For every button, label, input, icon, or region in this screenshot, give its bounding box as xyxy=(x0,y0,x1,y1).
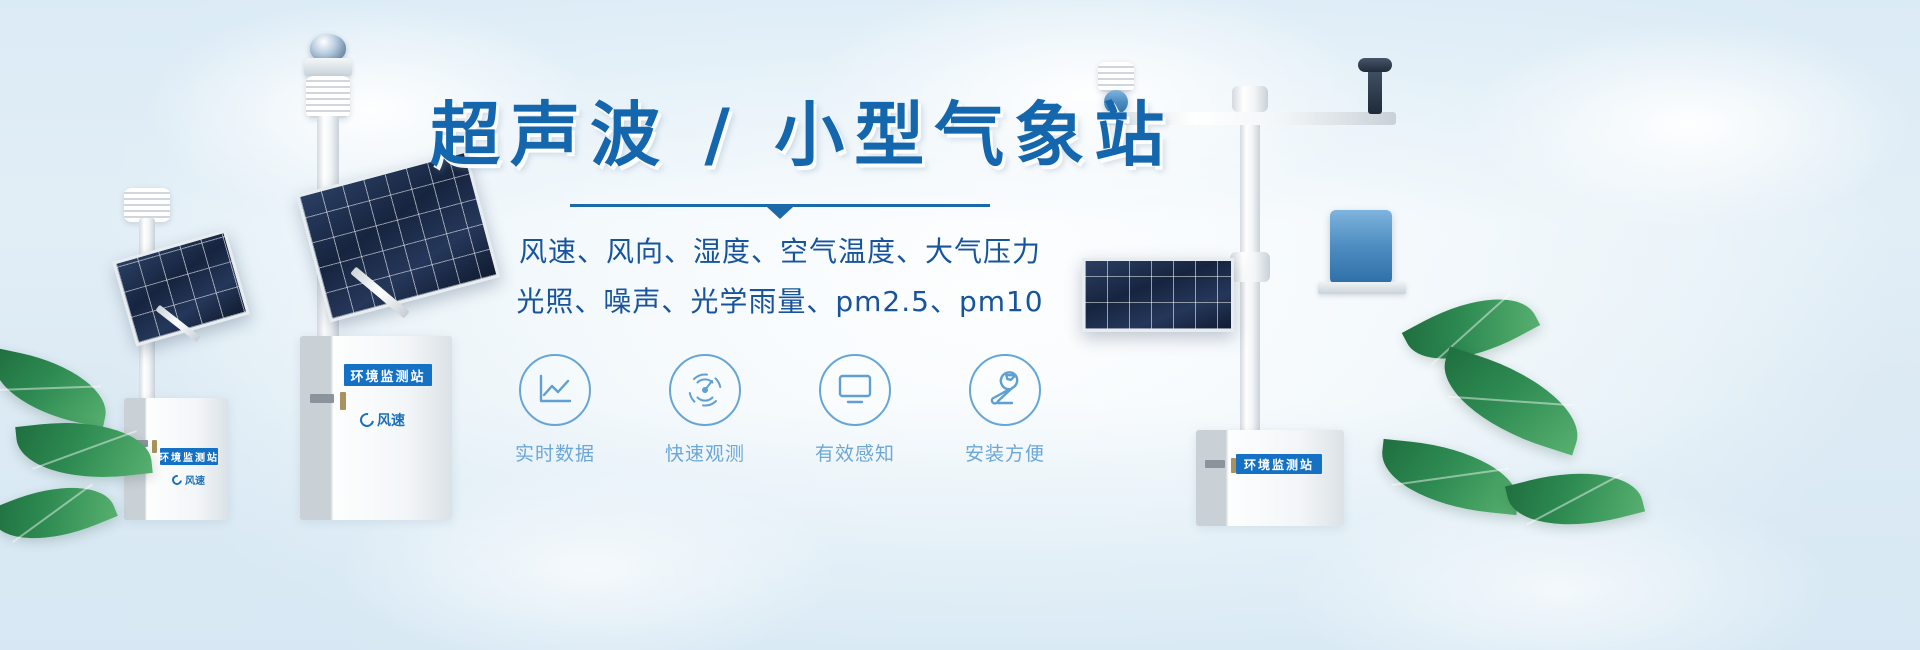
cabinet-name-plate: 环境监测站 xyxy=(160,448,218,465)
brand-logo: 风速 xyxy=(172,472,205,487)
feature-icon-circle xyxy=(969,354,1041,426)
leaf-decoration xyxy=(1505,455,1645,543)
feature-list: 实时数据 快速观测 xyxy=(430,354,1130,466)
product-banner: 环境监测站 风速 环境监测站 风速 xyxy=(0,0,1920,650)
brand-mark-icon xyxy=(357,410,376,429)
mast-collar xyxy=(1232,86,1268,112)
feature-icon-circle xyxy=(519,354,591,426)
title-divider xyxy=(570,204,990,207)
sensor-shelf xyxy=(1318,282,1406,294)
monitor-screen-icon xyxy=(835,373,875,407)
cabinet-vent-icon xyxy=(1205,460,1225,468)
leaf-decoration xyxy=(1429,346,1592,455)
leaf-decoration xyxy=(1377,439,1523,515)
brand-logo: 风速 xyxy=(360,410,405,430)
cloud-decoration xyxy=(1380,0,1920,270)
cabinet-latch-icon xyxy=(152,440,157,453)
mast-collar xyxy=(1230,252,1270,282)
feature-item-realtime-data[interactable]: 实时数据 xyxy=(500,354,610,466)
brand-label: 风速 xyxy=(377,410,405,430)
feature-label: 安装方便 xyxy=(950,439,1060,466)
feature-label: 有效感知 xyxy=(800,439,910,466)
feature-item-effective-sensing[interactable]: 有效感知 xyxy=(800,354,910,466)
page-title: 超声波 / 小型气象站 xyxy=(430,96,1130,174)
cabinet-name-plate: 环境监测站 xyxy=(1236,454,1322,474)
cabinet-latch-icon xyxy=(340,392,346,410)
feature-icon-circle xyxy=(819,354,891,426)
subtitle-line-1: 风速、风向、湿度、空气温度、大气压力 xyxy=(430,229,1130,274)
subtitle-line-2: 光照、噪声、光学雨量、pm2.5、pm10 xyxy=(430,279,1130,324)
divider-triangle-icon xyxy=(767,207,793,219)
wrench-icon xyxy=(985,371,1025,409)
wind-vane-fin xyxy=(1358,58,1392,72)
cabinet-name-plate: 环境监测站 xyxy=(344,364,432,386)
feature-item-easy-installation[interactable]: 安装方便 xyxy=(950,354,1060,466)
feature-label: 实时数据 xyxy=(500,439,610,466)
rain-gauge-icon xyxy=(1330,210,1392,284)
feature-icon-circle xyxy=(669,354,741,426)
radiation-shield-icon xyxy=(306,76,350,118)
cabinet-vent-icon xyxy=(310,394,334,403)
radiation-shield-icon xyxy=(124,188,170,222)
radar-sensor-icon xyxy=(685,370,725,410)
brand-mark-icon xyxy=(170,473,184,487)
radiation-shield-icon xyxy=(1098,62,1134,92)
line-chart-icon xyxy=(536,373,574,407)
leaf-decoration xyxy=(0,348,115,428)
feature-item-fast-observation[interactable]: 快速观测 xyxy=(650,354,760,466)
ultrasonic-wind-sensor-icon xyxy=(304,58,352,76)
brand-label: 风速 xyxy=(185,472,205,487)
banner-content: 超声波 / 小型气象站 风速、风向、湿度、空气温度、大气压力 光照、噪声、光学雨… xyxy=(430,96,1130,466)
feature-label: 快速观测 xyxy=(650,439,760,466)
leaf-decoration xyxy=(0,466,118,560)
equipment-cabinet: 环境监测站 xyxy=(1196,430,1344,526)
